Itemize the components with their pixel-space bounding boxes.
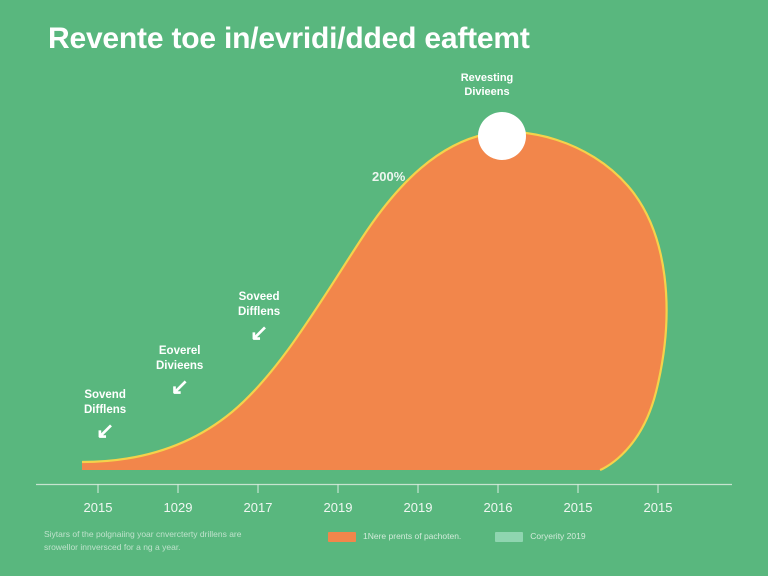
x-tick-label: 2015 [84,500,113,515]
callout-annotation-1: Eoverel Divieens ↙ [156,344,203,398]
x-tick-label: 2019 [404,500,433,515]
footer-note: Siytars of the polgnaiing yoar cnvercter… [44,528,344,554]
x-tick-label: 2019 [324,500,353,515]
legend-item-1: Coryerity 2019 [495,530,585,543]
x-tick-label: 2015 [644,500,673,515]
callout-annotation-2: Soveed Difflens ↙ [238,290,280,344]
peak-label-line1: Revesting [461,72,514,84]
x-tick-label: 2015 [564,500,593,515]
down-left-arrow-icon: ↙ [156,376,203,398]
callout-1-line2: Divieens [156,359,203,374]
x-tick-label: 1029 [164,500,193,515]
x-axis-ticks [98,484,658,493]
footer-note-line2: srowellor innversced for a ng a year. [44,541,344,554]
peak-label-line2: Divieens [464,86,509,98]
callout-0-line2: Difflens [84,403,126,418]
callout-2-line1: Soveed [238,290,280,305]
x-tick-label: 2017 [244,500,273,515]
legend-swatch-icon [495,532,523,542]
chart-canvas: Revente toe in/evridi/dded eaftemt Reves… [0,0,768,576]
peak-circle-marker [478,112,526,160]
peak-marker-label: Revesting Divieens [427,72,547,100]
footer-note-line1: Siytars of the polgnaiing yoar cnvercter… [44,528,344,541]
area-chart-plot [0,0,768,576]
legend-label-0: 1Nere prents of pachoten. [363,530,461,543]
callout-annotation-0: Sovend Difflens ↙ [84,388,126,442]
legend-label-1: Coryerity 2019 [530,530,585,543]
down-left-arrow-icon: ↙ [238,322,280,344]
legend-swatch-icon [328,532,356,542]
legend-item-0: 1Nere prents of pachoten. [328,530,461,543]
chart-legend: 1Nere prents of pachoten. Coryerity 2019 [328,530,612,543]
x-tick-label: 2016 [484,500,513,515]
down-left-arrow-icon: ↙ [84,420,126,442]
callout-2-line2: Difflens [238,305,280,320]
percent-annotation-label: 200% [372,169,405,184]
callout-1-line1: Eoverel [156,344,203,359]
callout-0-line1: Sovend [84,388,126,403]
